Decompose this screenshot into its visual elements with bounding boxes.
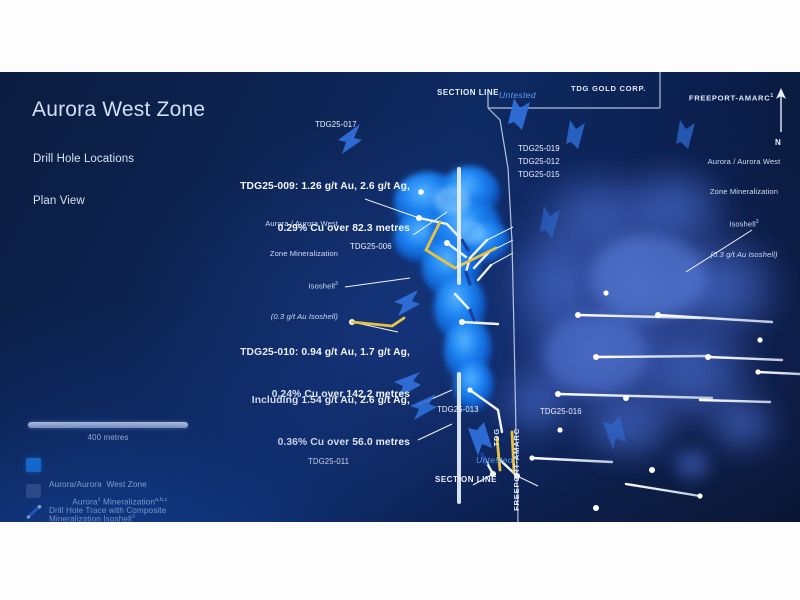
iso-line-3-text: Isoshell xyxy=(308,282,335,291)
iso-line-1: Aurora / Aurora West xyxy=(198,219,338,229)
legend-label-trace-composite: Drill Hole Trace with Composite xyxy=(49,505,166,516)
isoshell-note-right: Aurora / Aurora West Zone Mineralization… xyxy=(688,137,800,280)
subtitle-line-1: Drill Hole Locations xyxy=(33,152,134,166)
boundary-label-freeport-amarc: FREEPORT-AMARC xyxy=(512,428,521,511)
drill-hole-label-tdg25-013: TDG25-013 xyxy=(437,405,479,414)
untested-label-bottom: Untested xyxy=(476,455,513,465)
scale-bar xyxy=(28,422,188,428)
iso-line-2: Zone Mineralization xyxy=(198,249,338,259)
callout-line-2: 0.36% Cu over 56.0 metres xyxy=(216,436,410,450)
iso-line-3: Isoshell3 xyxy=(688,217,800,230)
drill-hole-label-tdg25-012: TDG25-012 xyxy=(518,157,560,166)
drill-traces-center xyxy=(419,218,517,476)
section-line xyxy=(457,167,461,504)
iso-line-3-sup: 3 xyxy=(335,281,338,287)
section-line-label-bottom: SECTION LINE xyxy=(435,475,497,484)
iso-line-2: Zone Mineralization xyxy=(688,187,800,197)
aurora-west-zone-figure: Aurora West Zone Drill Hole Locations Pl… xyxy=(0,72,800,522)
legend-swatch-drill-trace-composite-icon xyxy=(26,505,42,519)
drill-hole-label-tdg25-011: TDG25-011 xyxy=(308,457,349,466)
screenshot-canvas: Aurora West Zone Drill Hole Locations Pl… xyxy=(0,0,800,600)
drill-hole-label-tdg25-016: TDG25-016 xyxy=(540,407,582,416)
drill-hole-label-tdg25-019: TDG25-019 xyxy=(518,144,560,153)
figure-title: Aurora West Zone xyxy=(32,98,205,122)
callout-line-1: Including 1.54 g/t Au, 2.6 g/t Ag, xyxy=(216,394,410,408)
drill-hole-label-tdg25-006: TDG25-006 xyxy=(350,242,392,251)
iso-line-1: Aurora / Aurora West xyxy=(688,157,800,167)
tdg-gold-corp-label: TDG GOLD CORP. xyxy=(571,84,646,93)
drill-hole-label-tdg25-017: TDG25-017 xyxy=(315,120,357,129)
iso-line-3-text: Isoshell xyxy=(729,220,756,229)
north-label: N xyxy=(775,138,781,147)
freeport-amarc-text: FREEPORT-AMARC xyxy=(689,94,771,103)
untested-label-top: Untested xyxy=(499,90,536,100)
callout-line-1: TDG25-010: 0.94 g/t Au, 1.7 g/t Ag, xyxy=(216,346,410,360)
legend-swatch-isoshell xyxy=(26,458,41,472)
subtitle-line-2: Plan View xyxy=(33,194,134,208)
isoshell-note-left: Aurora / Aurora West Zone Mineralization… xyxy=(198,199,338,342)
boundary-label-tdg: TDG xyxy=(492,428,501,446)
figure-subtitle: Drill Hole Locations Plan View xyxy=(33,124,134,236)
iso-line-3-sup: 3 xyxy=(756,219,759,225)
north-arrow xyxy=(770,86,792,138)
callout-line-1: TDG25-009: 1.26 g/t Au, 2.6 g/t Ag, xyxy=(196,180,410,194)
iso-line-4: (0.3 g/t Au Isoshell) xyxy=(688,250,800,260)
iso-line-4: (0.3 g/t Au Isoshell) xyxy=(198,312,338,322)
section-line-label-top: SECTION LINE xyxy=(437,88,499,97)
freeport-amarc-label: FREEPORT-AMARC1 xyxy=(672,84,774,112)
drill-hole-label-tdg25-015: TDG25-015 xyxy=(518,170,560,179)
iso-line-3: Isoshell3 xyxy=(198,279,338,292)
scale-label: 400 metres xyxy=(28,433,188,442)
legend-line-1-sup2: a,b,c xyxy=(155,497,168,503)
legend-swatch-aurora-mineralization xyxy=(26,484,41,498)
